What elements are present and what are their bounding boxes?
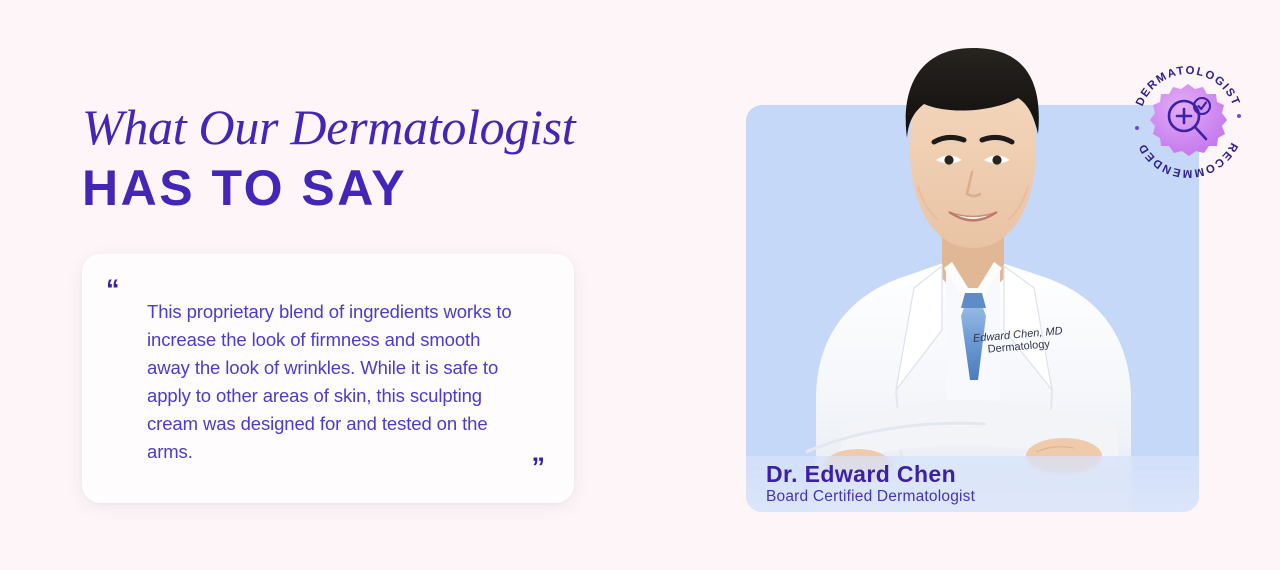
- quote-open-mark: “: [106, 276, 119, 303]
- badge-dot-right: [1237, 114, 1241, 118]
- doctor-nameplate: Dr. Edward Chen Board Certified Dermatol…: [746, 456, 1199, 512]
- quote-close-mark: ”: [532, 454, 545, 481]
- doctor-name: Dr. Edward Chen: [766, 460, 956, 488]
- badge-dot-left: [1135, 126, 1139, 130]
- quote-body-text: This proprietary blend of ingredients wo…: [147, 298, 517, 466]
- heading-line-serif: What Our Dermatologist: [82, 98, 642, 156]
- testimonial-quote-card: “ This proprietary blend of ingredients …: [82, 254, 574, 503]
- dermatologist-recommended-badge: DERMATOLOGIST RECOMMENDED: [1122, 56, 1254, 188]
- testimonial-section: What Our Dermatologist HAS TO SAY “ This…: [0, 0, 1280, 570]
- doctor-role: Board Certified Dermatologist: [766, 487, 975, 507]
- page-title: What Our Dermatologist HAS TO SAY: [82, 98, 642, 216]
- heading-line-bold: HAS TO SAY: [82, 160, 642, 216]
- badge-seal-shape: [1150, 84, 1227, 156]
